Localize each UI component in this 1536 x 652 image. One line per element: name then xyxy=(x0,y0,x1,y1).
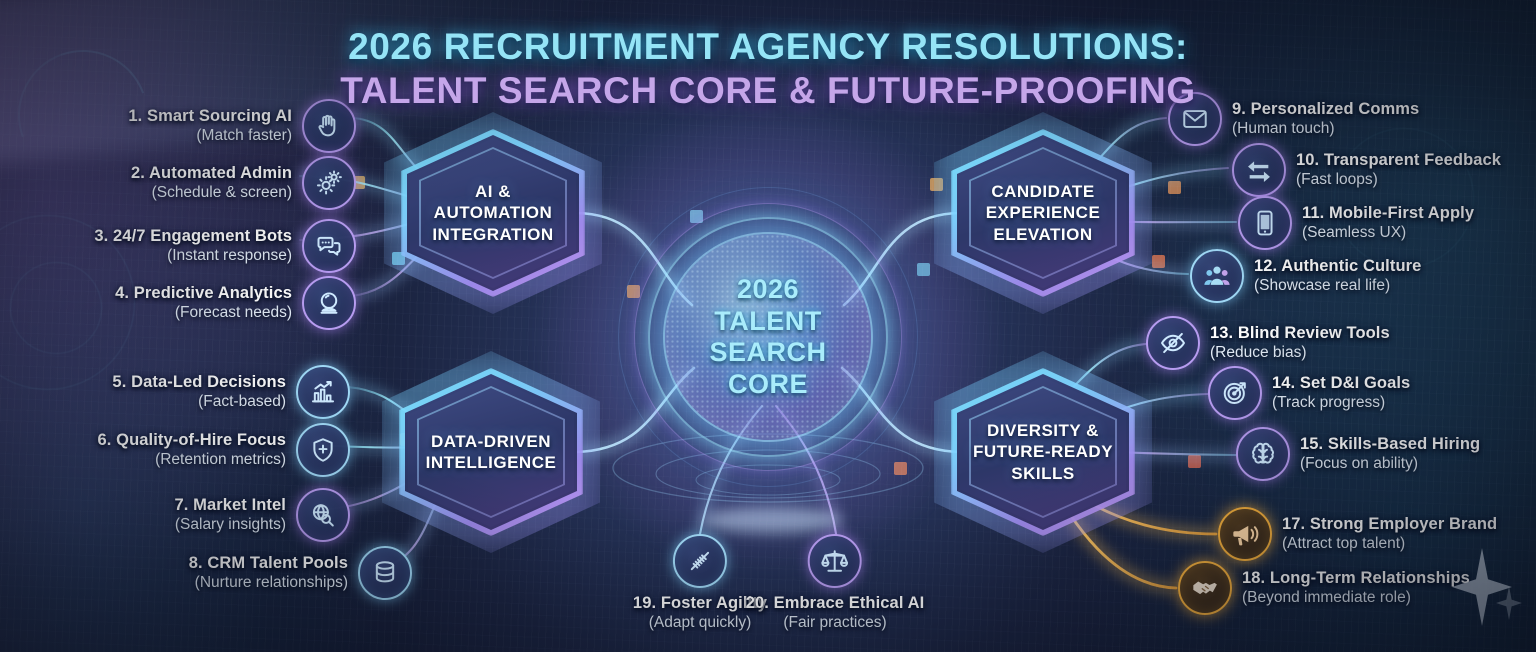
category-label: AI & AUTOMATION INTEGRATION xyxy=(426,181,559,245)
category-label: DATA-DRIVEN INTELLIGENCE xyxy=(420,431,563,474)
background-vignette xyxy=(0,0,1536,652)
category-label: DIVERSITY & FUTURE-READY SKILLS xyxy=(967,420,1119,484)
category-label: CANDIDATE EXPERIENCE ELEVATION xyxy=(980,181,1107,245)
infographic-canvas: 2026 TALENT SEARCH CORE AI & AUTOMATION … xyxy=(0,0,1536,652)
